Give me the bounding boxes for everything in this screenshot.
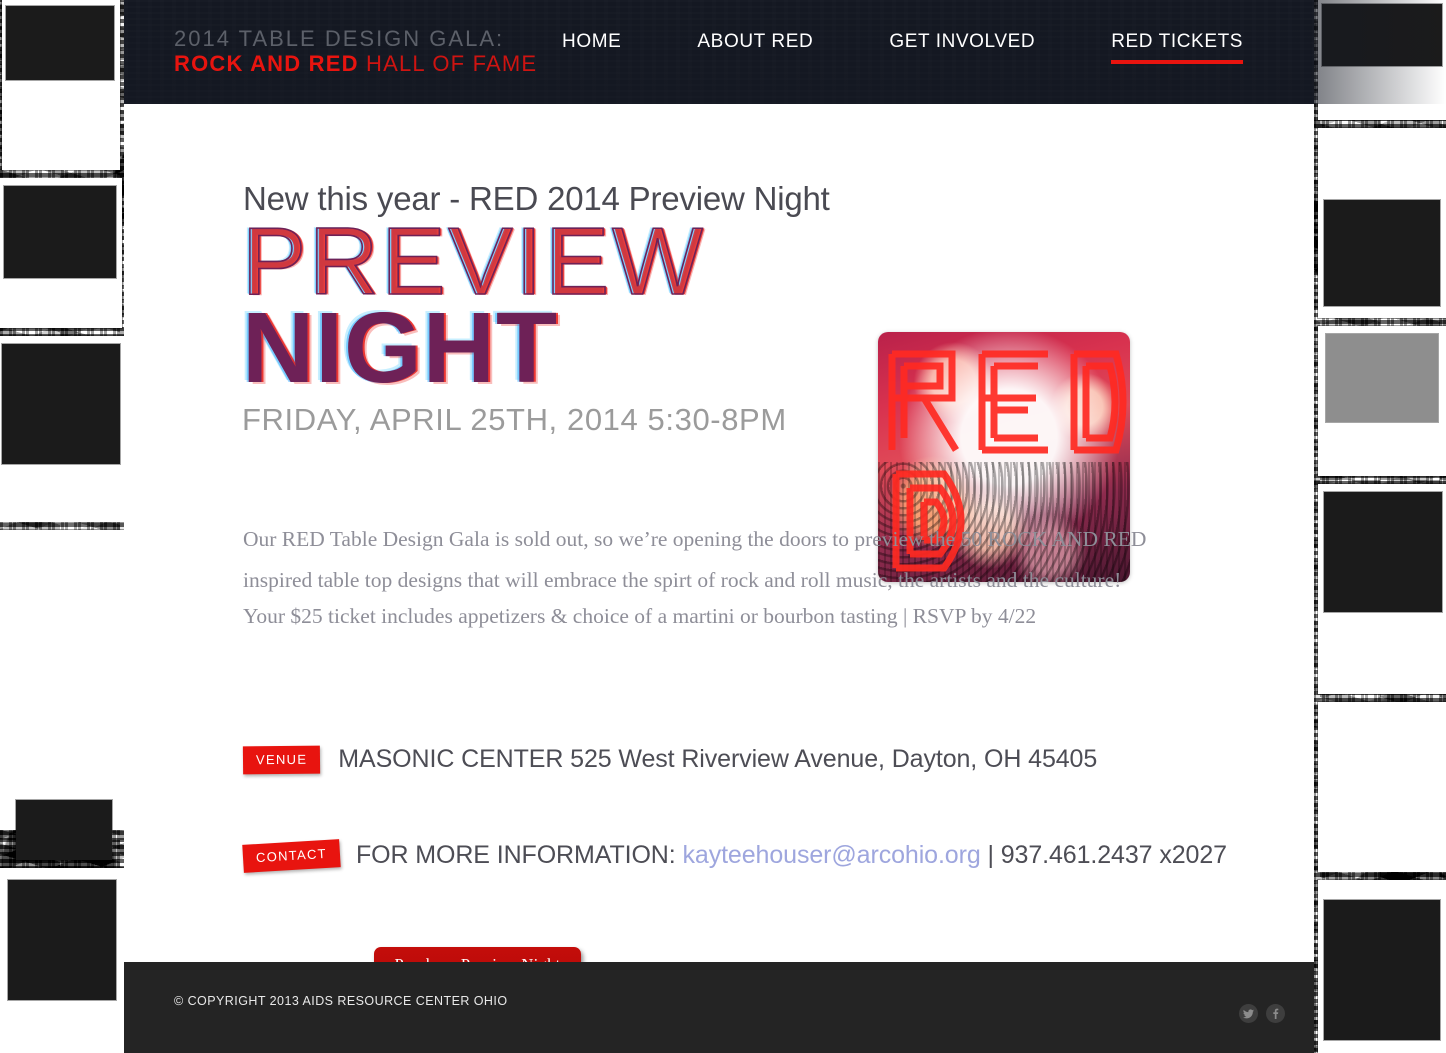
logo-line-2: ROCK AND RED HALL OF FAME xyxy=(174,52,537,75)
contact-row: CONTACT FOR MORE INFORMATION: kayteehous… xyxy=(243,841,1227,870)
contact-badge: CONTACT xyxy=(242,839,340,873)
site-column: 2014 TABLE DESIGN GALA: ROCK AND RED HAL… xyxy=(124,0,1314,1053)
nav-list: HOME ABOUT RED GET INVOLVED RED TICKETS … xyxy=(524,0,1314,104)
intro-paragraph: Our RED Table Design Gala is sold out, s… xyxy=(243,519,1203,602)
page-root: 2014 TABLE DESIGN GALA: ROCK AND RED HAL… xyxy=(0,0,1446,1053)
contact-phone: | 937.461.2437 x2027 xyxy=(988,841,1227,869)
ticket-details-paragraph: Your $25 ticket includes appetizers & ch… xyxy=(243,596,1203,637)
hero-word-night: NIGHT xyxy=(242,301,882,396)
copyright-text: © COPYRIGHT 2013 AIDS RESOURCE CENTER OH… xyxy=(174,994,508,1008)
nav-item-get-involved[interactable]: GET INVOLVED xyxy=(851,0,1073,59)
logo-rock-and-red: ROCK AND RED xyxy=(174,51,359,76)
facebook-icon[interactable] xyxy=(1266,1004,1285,1023)
logo-line-1: 2014 TABLE DESIGN GALA: xyxy=(174,27,537,50)
site-footer: © COPYRIGHT 2013 AIDS RESOURCE CENTER OH… xyxy=(124,962,1314,1053)
contact-email-link[interactable]: kayteehouser@arcohio.org xyxy=(682,841,980,869)
twitter-icon[interactable] xyxy=(1239,1004,1258,1023)
twitter-bird-glyph xyxy=(1243,1009,1254,1019)
nav-item-about-red[interactable]: ABOUT RED xyxy=(659,0,851,59)
site-header: 2014 TABLE DESIGN GALA: ROCK AND RED HAL… xyxy=(124,0,1314,104)
facebook-f-glyph xyxy=(1270,1008,1281,1019)
contact-info: FOR MORE INFORMATION: kayteehouser@arcoh… xyxy=(356,841,1227,870)
hero-wordmark: PREVIEW NIGHT FRIDAY, APRIL 25TH, 2014 5… xyxy=(242,216,882,438)
venue-address: MASONIC CENTER 525 West Riverview Avenue… xyxy=(338,745,1097,774)
venue-badge: VENUE xyxy=(243,745,321,774)
nav-link-get-involved[interactable]: GET INVOLVED xyxy=(889,0,1035,59)
nav-active-underline xyxy=(1111,60,1243,64)
social-links xyxy=(1239,1004,1285,1023)
nav-item-contact[interactable]: CONTACT xyxy=(1281,0,1314,59)
nav-link-red-tickets[interactable]: RED TICKETS xyxy=(1111,0,1243,59)
content-panel: New this year - RED 2014 Preview Night P… xyxy=(124,104,1314,962)
site-logo[interactable]: 2014 TABLE DESIGN GALA: ROCK AND RED HAL… xyxy=(174,27,537,75)
hero-date: FRIDAY, APRIL 25TH, 2014 5:30-8PM xyxy=(242,402,882,438)
main-navigation: HOME ABOUT RED GET INVOLVED RED TICKETS … xyxy=(524,0,1314,104)
contact-prefix: FOR MORE INFORMATION: xyxy=(356,841,676,869)
nav-link-about-red[interactable]: ABOUT RED xyxy=(697,0,813,59)
venue-row: VENUE MASONIC CENTER 525 West Riverview … xyxy=(243,745,1097,774)
logo-hall-of-fame: HALL OF FAME xyxy=(366,51,537,76)
nav-item-red-tickets[interactable]: RED TICKETS xyxy=(1073,0,1281,59)
nav-item-home[interactable]: HOME xyxy=(524,0,659,59)
nav-link-home[interactable]: HOME xyxy=(562,0,621,59)
